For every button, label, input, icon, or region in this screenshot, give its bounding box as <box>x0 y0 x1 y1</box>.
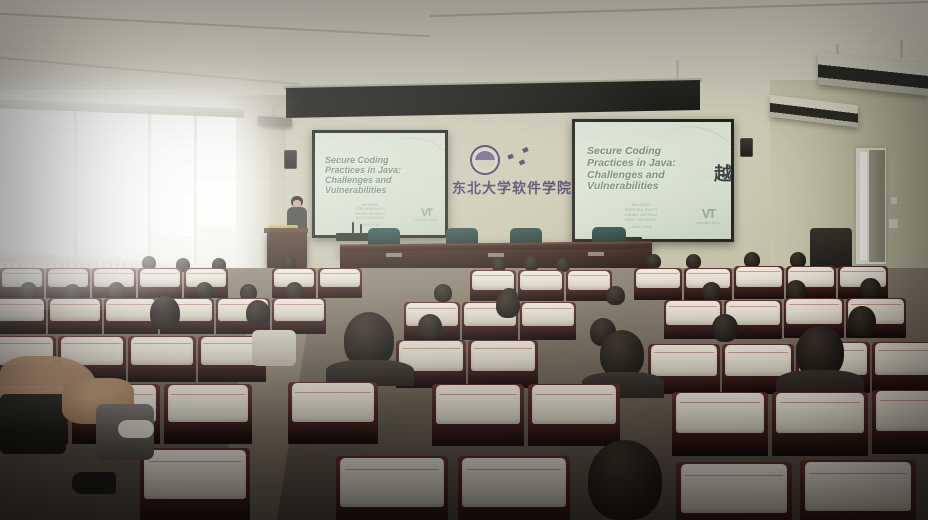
seat-piping <box>729 306 778 307</box>
seat-piping <box>570 275 609 276</box>
seat-piping <box>638 273 678 274</box>
seal-inner <box>475 151 495 170</box>
light-switch[interactable] <box>888 218 899 229</box>
seat <box>458 456 570 520</box>
seat-cover <box>144 450 245 500</box>
slide-title-line: Secure Coding <box>587 146 676 158</box>
seat-piping <box>188 273 225 274</box>
seat-cover <box>636 269 680 289</box>
table-microphone <box>360 224 362 236</box>
window-mullion <box>194 108 197 283</box>
seat-piping <box>680 402 761 403</box>
window-blind <box>0 108 74 258</box>
seat-piping <box>402 348 461 349</box>
seat-cover <box>462 458 565 508</box>
seat-piping <box>669 306 718 307</box>
seat-piping <box>685 475 782 476</box>
seat-piping <box>790 271 832 272</box>
university-seal <box>470 145 500 175</box>
seat <box>634 268 682 300</box>
vt-mark: VT <box>693 206 723 221</box>
seat <box>138 268 182 298</box>
table-nameplate <box>488 253 504 257</box>
seat <box>734 266 784 299</box>
seat-piping <box>809 473 906 474</box>
seat-piping <box>738 271 780 272</box>
seat <box>520 302 576 340</box>
window-blind <box>196 108 236 226</box>
seat-cover <box>681 464 788 514</box>
seat-cover <box>140 269 181 288</box>
audience-head <box>600 330 644 378</box>
seat <box>528 384 620 446</box>
seat <box>872 390 928 454</box>
seat-piping <box>851 304 901 305</box>
seat <box>336 456 448 520</box>
seat-piping <box>276 304 321 305</box>
seat-piping <box>4 273 41 274</box>
seat-piping <box>789 304 839 305</box>
seat <box>318 268 362 298</box>
seat-cover <box>472 271 514 290</box>
audience-head <box>20 282 37 299</box>
audience-head <box>588 440 662 520</box>
wall-chinese-char-right: 越 <box>714 160 732 186</box>
seat-cover <box>676 393 764 433</box>
table-nameplate <box>386 253 402 257</box>
virginia-tech-logo: VT VIRGINIA TECH <box>693 206 723 225</box>
seat-piping <box>439 394 516 395</box>
seat-piping <box>880 400 928 401</box>
seat <box>128 336 196 382</box>
seat-piping <box>50 273 87 274</box>
seat-cover <box>532 385 617 423</box>
seat-piping <box>467 469 561 470</box>
seat-piping <box>133 343 190 344</box>
seat-piping <box>0 304 42 305</box>
window-blind <box>76 108 148 250</box>
seat <box>468 340 538 388</box>
seat-cover <box>168 385 249 422</box>
audience-shoe <box>72 472 116 494</box>
slide-authors: NA HONG STEPHEN RUOTI DANIEL ZAPPALA KEN… <box>333 203 407 227</box>
audience-head <box>848 306 876 336</box>
vt-wordmark: VIRGINIA TECH <box>693 221 723 225</box>
seat-cover <box>725 345 791 376</box>
audience-head <box>786 280 806 300</box>
presenter-face <box>293 200 301 207</box>
seat <box>432 384 524 446</box>
seat-cover <box>520 271 562 290</box>
seat-cover <box>106 299 156 321</box>
seat-piping <box>108 304 153 305</box>
audience-head <box>606 286 625 305</box>
audience-head <box>712 314 738 342</box>
seat-cover <box>471 341 535 371</box>
slide-date: JUNE 2018 <box>333 223 407 227</box>
seat-cover <box>875 343 928 375</box>
seat <box>288 382 378 444</box>
audience-head <box>434 284 452 302</box>
seat-piping <box>149 461 241 462</box>
slide-author: KENT SEAMONS <box>597 217 685 222</box>
seat <box>800 460 916 520</box>
seat <box>272 298 326 334</box>
seat <box>676 462 792 520</box>
audience-head <box>646 254 661 269</box>
seat-piping <box>535 394 612 395</box>
seat-cover <box>651 345 717 376</box>
seat-piping <box>408 308 455 309</box>
slide-title-line: Challenges and <box>325 175 401 185</box>
seat-piping <box>524 308 571 309</box>
slide-title: Secure Coding Practices in Java: Challen… <box>587 146 676 193</box>
slide-title-line: Secure Coding <box>325 155 401 165</box>
seat-piping <box>522 275 561 276</box>
right-projection-screen: Secure Coding Practices in Java: Challen… <box>572 119 734 242</box>
seat-piping <box>878 350 928 351</box>
seat-cover <box>786 299 841 324</box>
audience-person <box>252 330 296 366</box>
seat-cover <box>776 393 864 433</box>
presenter <box>286 196 308 228</box>
seat-cover <box>805 462 912 512</box>
seat <box>672 392 768 456</box>
seat <box>48 298 102 334</box>
audience-head <box>496 292 520 318</box>
vt-mark: VT <box>413 207 439 219</box>
seat-piping <box>63 343 120 344</box>
audience-head <box>108 282 125 299</box>
seat <box>0 298 46 334</box>
seat <box>140 448 250 520</box>
seat-cover <box>320 269 361 288</box>
seat-cover <box>568 271 610 290</box>
light-switch[interactable] <box>890 196 898 205</box>
seat <box>164 384 252 444</box>
seat-piping <box>0 343 51 344</box>
audience-head <box>686 254 701 269</box>
audience-head <box>702 282 721 301</box>
seat-piping <box>474 275 513 276</box>
seat-cover <box>131 337 194 366</box>
seat-cover <box>0 299 44 321</box>
seat-piping <box>688 273 728 274</box>
seat <box>518 270 564 301</box>
virginia-tech-logo: VT VIRGINIA TECH <box>413 207 439 222</box>
seat-piping <box>654 352 715 353</box>
seat-cover <box>50 299 100 321</box>
slide-title-line: Vulnerabilities <box>587 181 676 193</box>
vt-wordmark: VIRGINIA TECH <box>413 219 439 222</box>
wall-speaker <box>740 138 753 157</box>
slide-authors: NA HONG STEPHEN RUOTI DANIEL ZAPPALA KEN… <box>597 202 685 229</box>
audience-head <box>860 278 881 299</box>
audience-person-foreground <box>0 394 66 454</box>
wall-speaker <box>284 150 297 169</box>
seat-piping <box>142 273 179 274</box>
seat-piping <box>96 273 133 274</box>
ac-mount-stem <box>900 40 903 58</box>
seat-piping <box>474 348 533 349</box>
slide-title: Secure Coding Practices in Java: Challen… <box>325 155 401 195</box>
slide-title-line: Practices in Java: <box>325 165 401 175</box>
window-blind <box>150 108 194 236</box>
slide-author: KENT SEAMONS <box>333 216 407 220</box>
audience-shoe <box>118 420 154 438</box>
side-door[interactable] <box>869 150 885 262</box>
audience-head <box>246 300 270 326</box>
wall-chinese-text: 东北大学软件学院 <box>452 178 572 198</box>
side-sofa <box>810 228 852 268</box>
audience-head <box>150 296 180 330</box>
slide-title-line: Vulnerabilities <box>325 185 401 195</box>
seat-piping <box>52 304 97 305</box>
audience-head <box>196 282 213 299</box>
seat-piping <box>345 469 439 470</box>
door-light-strip <box>860 152 867 260</box>
seat-cover <box>340 458 443 508</box>
seat <box>872 342 928 393</box>
slide-title-line: Practices in Java: <box>587 158 676 170</box>
seat-cover <box>666 301 719 325</box>
audience-head <box>418 314 442 339</box>
seat <box>772 392 868 456</box>
audience-head <box>286 282 303 299</box>
seat-piping <box>276 273 313 274</box>
seat-piping <box>171 394 245 395</box>
seat-piping <box>728 352 789 353</box>
seat-cover <box>522 303 574 327</box>
seat-cover <box>876 391 928 431</box>
lecture-hall-photo: Secure Coding Practices in Java: Challen… <box>0 0 928 520</box>
audience-head <box>524 256 539 271</box>
seat-piping <box>780 402 861 403</box>
seat-cover <box>436 385 521 423</box>
seat-cover <box>736 267 782 287</box>
seat-piping <box>842 271 884 272</box>
table-microphone <box>352 222 354 236</box>
left-projection-screen: Secure Coding Practices in Java: Challen… <box>312 130 448 238</box>
table-nameplate <box>588 252 604 256</box>
seat-piping <box>295 392 371 393</box>
seat-cover <box>274 299 324 321</box>
seat-piping <box>322 273 359 274</box>
seat-cover <box>292 383 375 421</box>
